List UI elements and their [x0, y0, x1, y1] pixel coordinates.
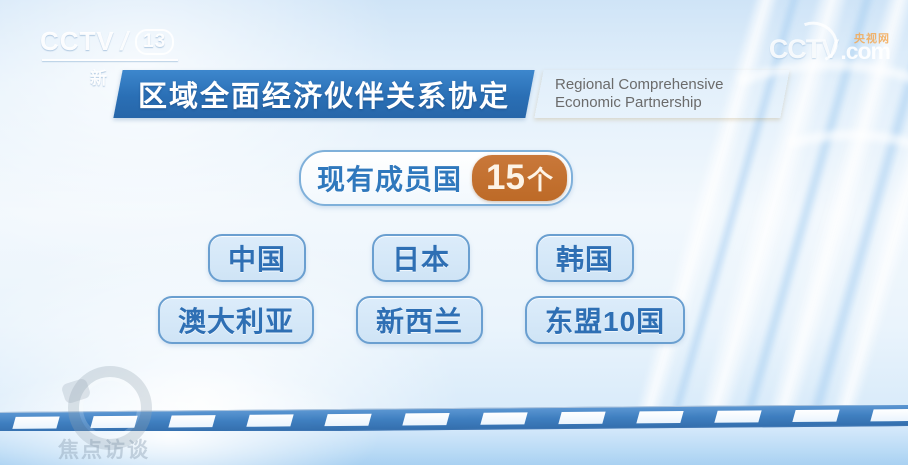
film-strip-segment	[480, 412, 527, 424]
country-chip-label: 新西兰	[376, 300, 463, 340]
country-chip: 东盟10国	[525, 296, 685, 344]
logo-underline	[42, 59, 178, 61]
title-banner: 区域全面经济伙伴关系协定 Regional Comprehensive Econ…	[118, 70, 785, 118]
member-count-number: 15	[486, 155, 525, 201]
film-strip-segment	[90, 416, 137, 428]
film-strip-segment	[714, 410, 761, 422]
film-strip-segment	[12, 416, 59, 428]
title-banner-orange: Regional Comprehensive Economic Partners…	[534, 70, 789, 118]
title-banner-blue: 区域全面经济伙伴关系协定	[113, 70, 534, 118]
country-chip-label: 日本	[392, 238, 450, 278]
country-chip-row-1: 中国 日本 韩国	[208, 234, 634, 282]
film-strip-bar	[0, 405, 908, 431]
country-chip-row-2: 澳大利亚 新西兰 东盟10国	[158, 296, 685, 344]
country-chip: 新西兰	[356, 296, 483, 344]
watermark-cn-text: 央视网	[854, 30, 890, 46]
country-chip-label: 中国	[228, 238, 286, 278]
light-streak	[782, 0, 908, 465]
title-english-line1: Regional Comprehensive	[555, 76, 785, 94]
country-chip: 澳大利亚	[158, 296, 314, 344]
film-strip-segment	[402, 413, 449, 425]
country-chip-label: 东盟10国	[545, 300, 665, 340]
member-count-pill: 现有成员国 15 个	[299, 150, 573, 206]
country-chip: 中国	[208, 234, 306, 282]
country-chip-label: 澳大利亚	[178, 300, 294, 340]
member-count-badge: 15 个	[472, 155, 567, 201]
logo-channel-number: 13	[135, 29, 174, 55]
member-count-unit: 个	[527, 157, 553, 203]
broadcast-graphic-stage: CCTV / 13 新闻 CCTV .com 央视网 区域全面经济伙伴关系协定 …	[0, 0, 908, 465]
cctv-com-watermark: CCTV .com 央视网	[769, 34, 890, 65]
country-chip: 韩国	[536, 234, 634, 282]
logo-cctv-text: CCTV	[40, 26, 115, 57]
film-strip-segment	[324, 414, 371, 426]
bottom-gradient	[0, 425, 908, 465]
film-strip-segment	[558, 412, 605, 424]
title-english-line2: Economic Partnership	[555, 94, 785, 112]
title-chinese: 区域全面经济伙伴关系协定	[138, 73, 510, 115]
film-strip-segment	[792, 410, 839, 422]
member-count-label: 现有成员国	[317, 158, 462, 198]
film-strip-segment	[246, 414, 293, 426]
logo-top-row: CCTV / 13	[40, 26, 190, 57]
film-strip-segment	[168, 415, 215, 427]
logo-slash: /	[117, 26, 132, 57]
film-strip	[0, 405, 908, 431]
film-strip-segment	[636, 411, 683, 423]
country-chip: 日本	[372, 234, 470, 282]
film-strip-segment	[870, 409, 908, 421]
country-chip-label: 韩国	[556, 238, 614, 278]
